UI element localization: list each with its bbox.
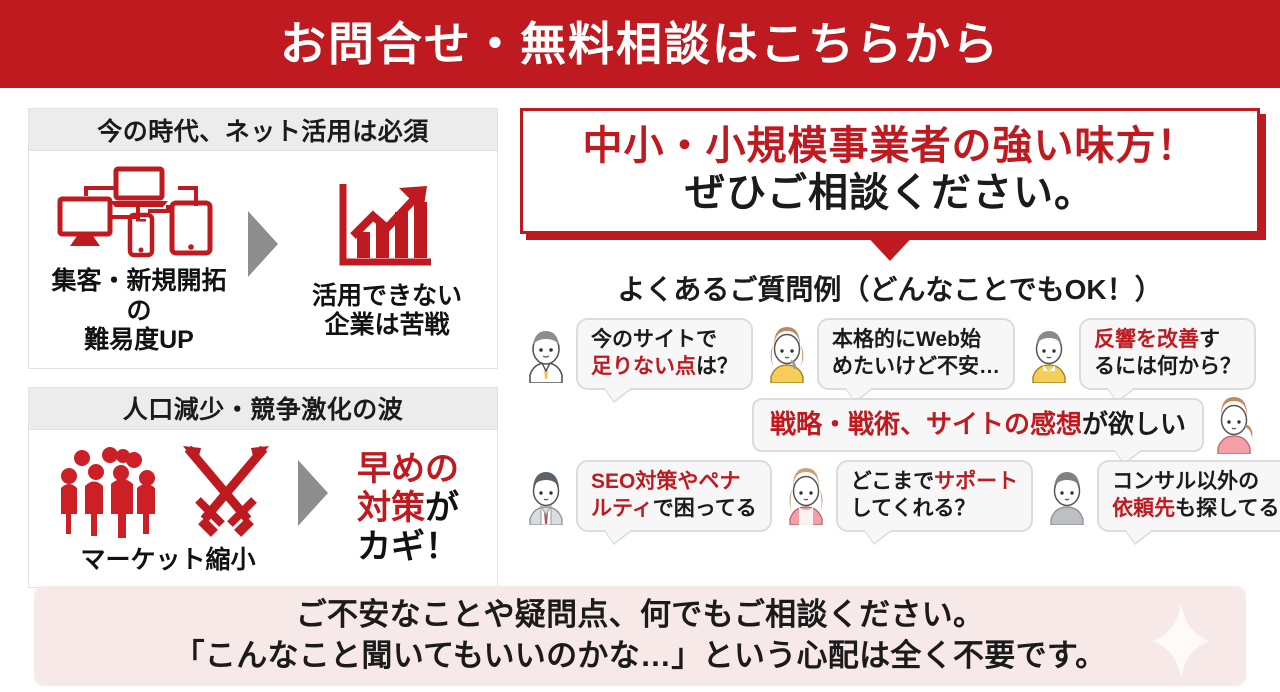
callout-box: 中小・小規模事業者の強い味方！ ぜひご相談ください。 (520, 108, 1260, 234)
caption-line-2: 難易度UP (43, 326, 235, 356)
bubble-line-2-plain: は？ (696, 355, 738, 378)
card-body: マーケット縮小 早めの 対策が カギ！ (29, 430, 497, 588)
faq-bubble: どこまでサポート してくれる？ (836, 460, 1033, 532)
triangle-right-icon (246, 211, 280, 277)
bubble-line-2-plain: で困ってる (653, 497, 757, 520)
card-body: 集客・新規開拓の 難易度UP (29, 151, 497, 368)
bubble-line-2-accent: 足りない点 (591, 355, 696, 378)
right-column: 中小・小規模事業者の強い味方！ ぜひご相談ください。 よくあるご質問例（どんなこ… (520, 108, 1260, 532)
card-side-caption: 活用できない 企業は苦戦 (312, 282, 462, 341)
bubble-line-1: どこまでサポート (851, 469, 1018, 495)
bubble-row: 戦略・戦術、サイトの感想が欲しい (520, 396, 1260, 454)
avatar-woman-long-hair-pink-top (780, 467, 832, 525)
card-header-label: 人口減少・競争激化の波 (123, 390, 404, 426)
bubble-line-2-plain: も探してる (1175, 497, 1279, 520)
info-card-net-utilization: 今の時代、ネット活用は必須 (28, 108, 498, 369)
faq-bubble: コンサル以外の 依頼先も探してる (1097, 460, 1280, 532)
caption-line-2: 企業は苦戦 (312, 311, 462, 341)
faq-bubble: 今のサイトで 足りない点は？ (576, 318, 753, 390)
bubble-line-1: 戦略・戦術、サイトの感想が欲しい (770, 408, 1186, 441)
faq-bubble-grid: 今のサイトで 足りない点は？ (520, 318, 1260, 532)
bubble-line-1-accent: サポート (934, 470, 1018, 493)
faq-bubble: 本格的にWeb始 めたいけど不安… (817, 318, 1015, 390)
caption-line-1: 早めの (357, 450, 459, 489)
growth-chart-icon (335, 174, 439, 278)
info-card-market-shrink: 人口減少・競争激化の波 (28, 387, 498, 589)
avatar-man-gray-shirt (1041, 467, 1093, 525)
caption-line-2: 対策が (357, 489, 459, 528)
bubble-line-2-accent: ルティ (591, 497, 653, 520)
card-side-left: 集客・新規開拓の 難易度UP (43, 159, 235, 356)
bubble-line-1: 今のサイトで (591, 327, 738, 353)
bubble-row: SEO対策やペナ ルティで困ってる (520, 460, 1260, 532)
page-title: お問合せ・無料相談はこちらから (280, 21, 1000, 67)
caption-line-1: マーケット縮小 (80, 546, 255, 576)
faq-item: どこまでサポート してくれる？ (780, 460, 1033, 532)
caption-line-1: 集客・新規開拓の (43, 267, 235, 326)
crossed-swords-icon (171, 442, 281, 538)
bubble-line-2-accent: 依頼先 (1112, 497, 1175, 520)
callout-line-2: ぜひご相談ください。 (533, 170, 1247, 217)
page-header-banner: お問合せ・無料相談はこちらから (0, 0, 1280, 88)
avatar-man-gray-hair-yellow-tie (520, 325, 572, 383)
faq-section-title: よくあるご質問例（どんなことでもOK！） (520, 268, 1260, 308)
bubble-line-2: してくれる？ (851, 496, 1018, 522)
avatar-boy-gray-hair-yellow-top (1023, 325, 1075, 383)
bubble-line-2: めたいけど不安… (832, 354, 1000, 380)
card-side-right: 早めの 対策が カギ！ (333, 446, 483, 566)
card-side-caption: 集客・新規開拓の 難易度UP (43, 267, 235, 356)
caption-line-2-accent: 対策 (357, 489, 425, 527)
market-icons-group (55, 438, 281, 542)
bubble-line-1: コンサル以外の (1112, 469, 1279, 495)
callout-line-1: 中小・小規模事業者の強い味方！ (533, 123, 1247, 170)
faq-item: 本格的にWeb始 めたいけど不安… (761, 318, 1015, 390)
avatar-man-suit-dark-hair (520, 467, 572, 525)
sparkle-icon (1152, 604, 1210, 678)
footer-line-2: 「こんなこと聞いてもいいのかな…」という心配は全く不要です。 (174, 636, 1107, 677)
card-header-label: 今の時代、ネット活用は必須 (97, 112, 429, 148)
bubble-row: 今のサイトで 足りない点は？ (520, 318, 1260, 390)
bubble-line-1-plain: す (1199, 328, 1220, 351)
card-side-caption: 早めの 対策が カギ！ (357, 450, 459, 566)
triangle-right-icon (296, 460, 330, 526)
bubble-line-1: 本格的にWeb始 (832, 327, 1000, 353)
card-side-caption: マーケット縮小 (80, 546, 255, 576)
caption-line-2-plain: が (425, 489, 459, 527)
caption-line-3: カギ！ (357, 528, 459, 567)
left-column: 今の時代、ネット活用は必須 (28, 108, 498, 588)
bubble-line-2: 依頼先も探してる (1112, 496, 1279, 522)
callout-notch-icon (862, 231, 918, 261)
caption-line-1: 活用できない (312, 282, 462, 312)
bubble-line-1-accent: SEO対策やペナ (591, 470, 740, 493)
avatar-woman-brown-hair-yellow-top (761, 325, 813, 383)
bubble-line-1-accent: 戦略・戦術、サイトの感想 (770, 409, 1082, 439)
footer-banner: ご不安なことや疑問点、何でもご相談ください。 「こんなこと聞いてもいいのかな…」… (34, 586, 1246, 686)
bubble-line-1-accent: 反響を改善 (1094, 328, 1199, 351)
crowd-people-icon (55, 442, 165, 538)
faq-bubble: 反響を改善す るには何から？ (1079, 318, 1256, 390)
bubble-line-2: 足りない点は？ (591, 354, 738, 380)
avatar-woman-ponytail-pink-top (1208, 396, 1260, 454)
card-header: 人口減少・競争激化の波 (29, 388, 497, 430)
faq-item: 今のサイトで 足りない点は？ (520, 318, 753, 390)
faq-bubble: SEO対策やペナ ルティで困ってる (576, 460, 772, 532)
faq-item: コンサル以外の 依頼先も探してる (1041, 460, 1280, 532)
bubble-line-1-plain: が欲しい (1082, 409, 1186, 439)
card-side-right: 活用できない 企業は苦戦 (291, 174, 483, 341)
connected-devices-icon (50, 159, 228, 263)
bubble-line-1: SEO対策やペナ (591, 469, 757, 495)
footer-line-1: ご不安なことや疑問点、何でもご相談ください。 (296, 595, 985, 636)
page-root: お問合せ・無料相談はこちらから 今の時代、ネット活用は必須 (0, 0, 1280, 692)
bubble-line-2: ルティで困ってる (591, 496, 757, 522)
bubble-line-2: るには何から？ (1094, 354, 1241, 380)
bubble-line-1-plain: どこまで (851, 470, 934, 493)
faq-bubble: 戦略・戦術、サイトの感想が欲しい (752, 398, 1204, 452)
faq-item: 反響を改善す るには何から？ (1023, 318, 1256, 390)
faq-item: SEO対策やペナ ルティで困ってる (520, 460, 772, 532)
faq-item: 戦略・戦術、サイトの感想が欲しい (752, 396, 1260, 454)
bubble-line-1: 反響を改善す (1094, 327, 1241, 353)
card-header: 今の時代、ネット活用は必須 (29, 109, 497, 151)
card-side-left: マーケット縮小 (43, 438, 293, 576)
